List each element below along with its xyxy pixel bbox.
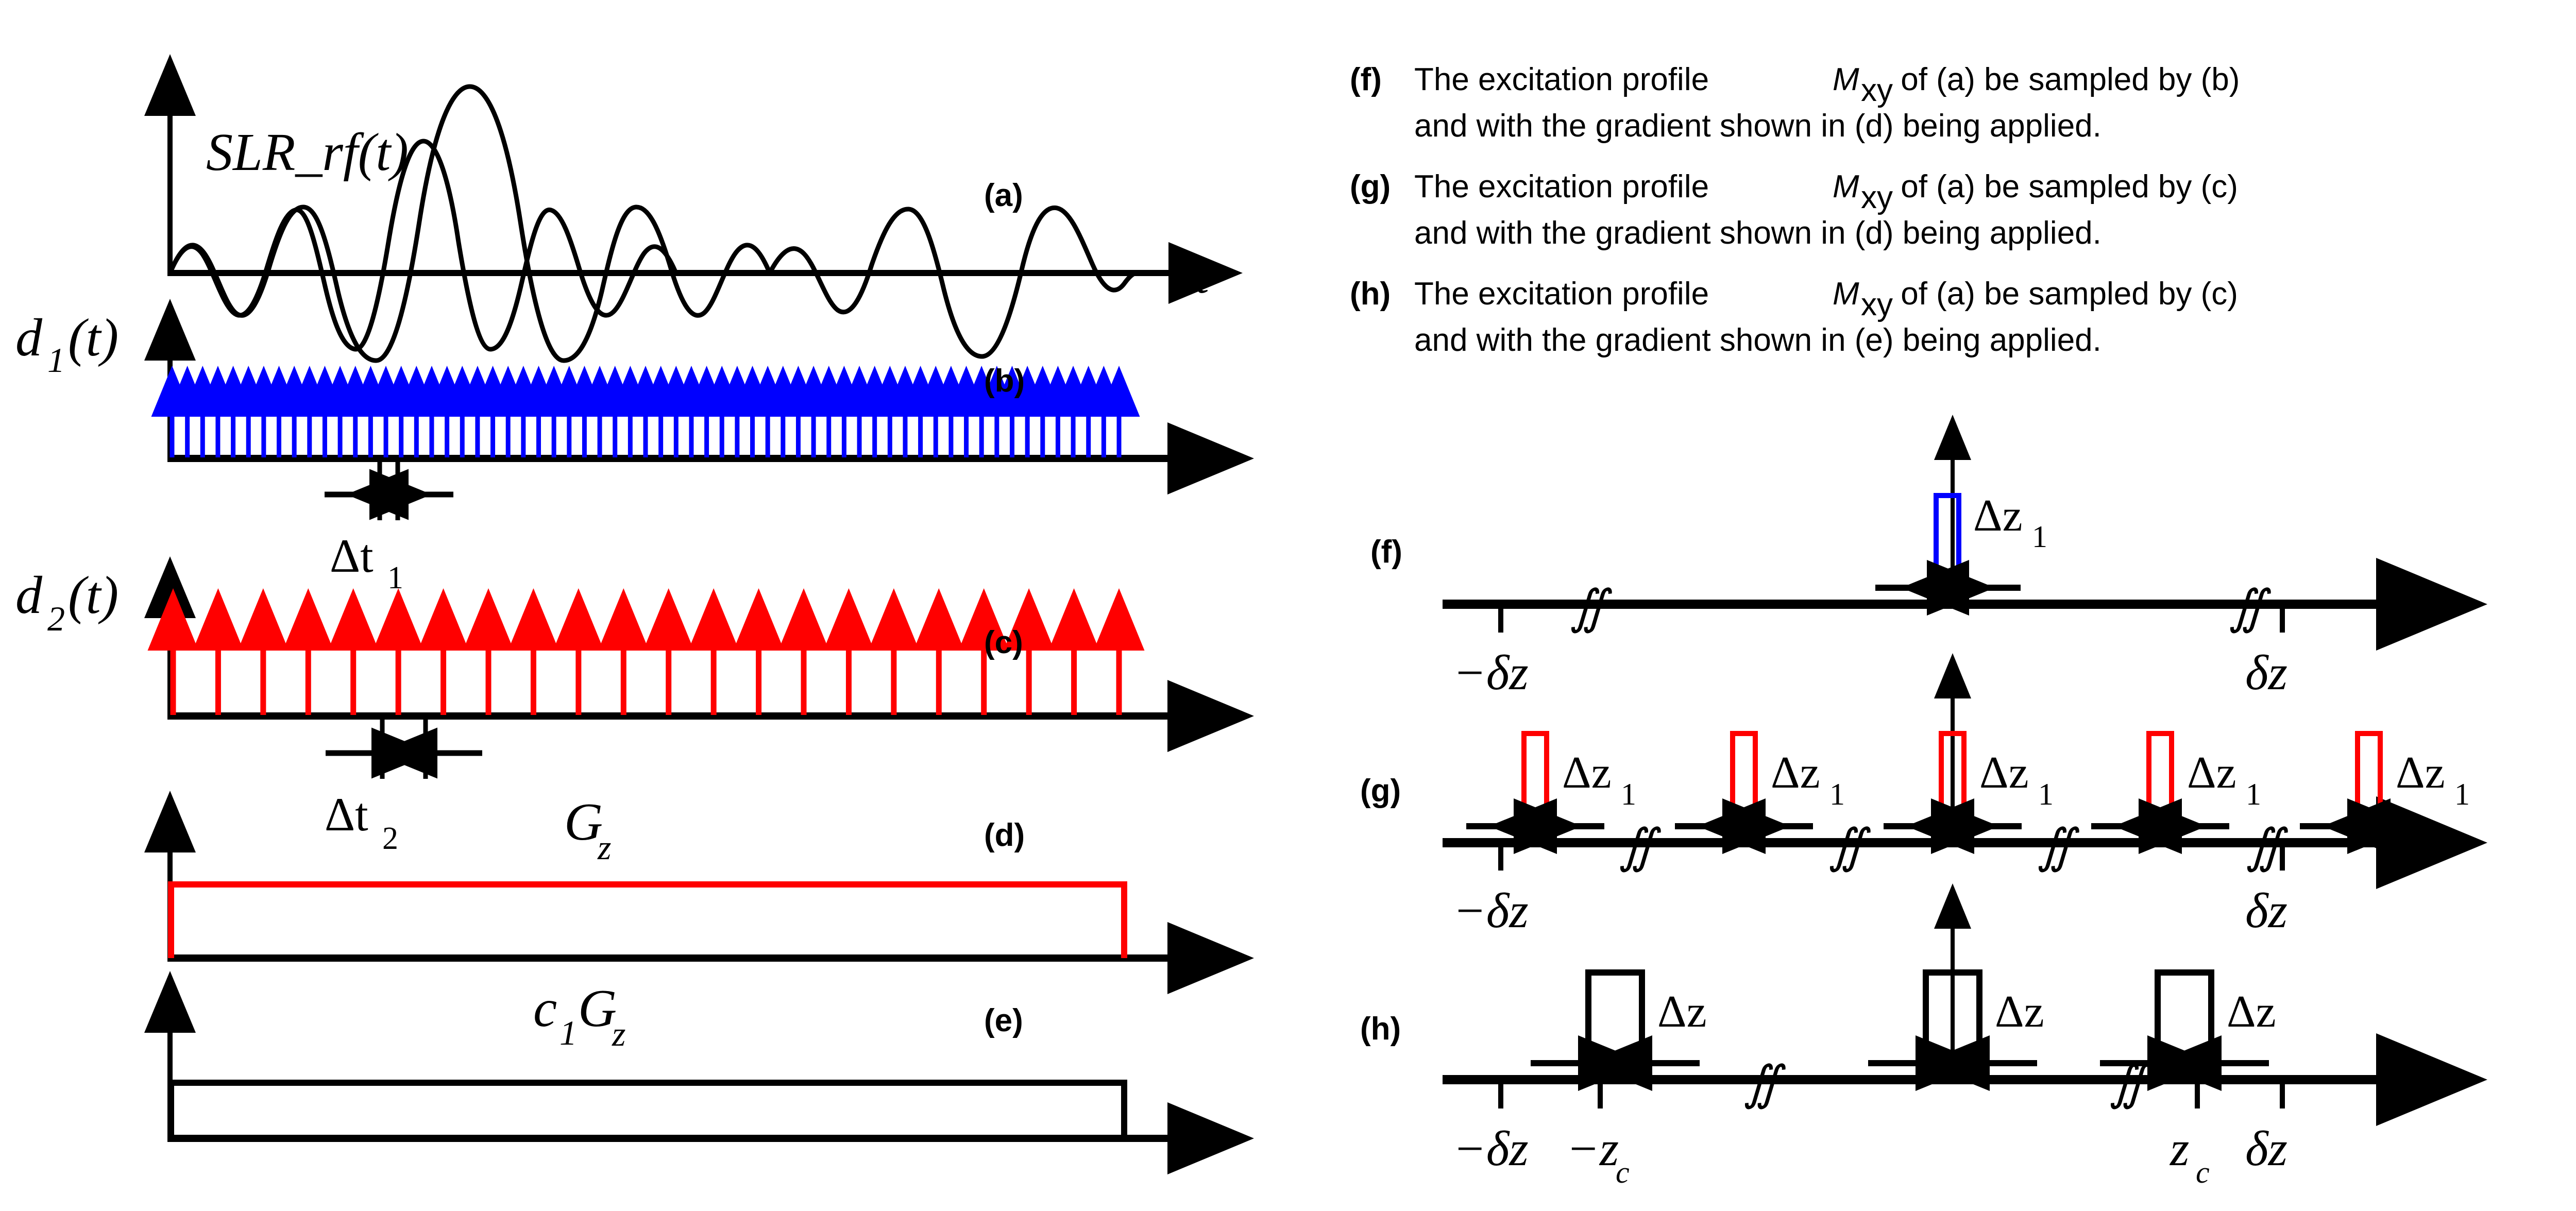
panel-a-axis-label: t (1195, 248, 1210, 303)
panel-f-break-mark-right: ∬ (2229, 581, 2272, 634)
caption-h-line1-b: of (a) be sampled by (c) (1892, 276, 2238, 312)
width-label-2: Δz (2227, 987, 2276, 1037)
width-label-1: Δz (1771, 748, 1820, 798)
width-label-sub-4: 1 (2454, 777, 2470, 811)
panel-g-tag: (g) (1360, 773, 1401, 809)
panel-a-tag: (a) (984, 178, 1023, 213)
break-mark-0: ∬ (1619, 820, 1662, 873)
caption-f-line1-sub: xy (1861, 73, 1893, 108)
panel-e-signal-label: G (578, 979, 617, 1038)
width-label-sub-1: 1 (1829, 777, 1845, 811)
panel-c-signal-label: d (15, 566, 43, 625)
panel-h-tick-label-negzc: −z (1566, 1121, 1619, 1176)
caption-g-line1-m: M (1833, 169, 1859, 204)
panel-d-signal-sub: z (597, 828, 611, 867)
break-mark-1: ∬ (2109, 1057, 2152, 1110)
caption-h-line2: and with the gradient shown in (e) being… (1414, 322, 2102, 358)
caption-f-line1-m: M (1833, 62, 1859, 97)
caption-g-line1-a: The excitation profile (1414, 169, 1718, 204)
width-label-sub-0: 1 (1621, 777, 1636, 811)
panel-b-spacing-sub: 1 (387, 560, 403, 595)
break-mark-0: ∬ (1743, 1057, 1786, 1110)
width-label-4: Δz (2396, 748, 2445, 798)
panel-g-tick-label-negdz: −δz (1453, 883, 1529, 938)
panel-b-tag: (b) (984, 363, 1025, 399)
panel-f-break-mark-left: ∬ (1570, 581, 1613, 634)
caption-g-tag: (g) (1350, 169, 1391, 204)
width-label-0: Δz (1657, 987, 1707, 1037)
panel-g-tick-label-dz: δz (2245, 883, 2287, 938)
panel-h-tick-label-negdz: −δz (1453, 1121, 1529, 1176)
panel-b-signal-label: d (15, 308, 43, 367)
panel-b-axis-label: t (1195, 434, 1210, 489)
panel-g-axis-label: z (2415, 815, 2436, 873)
width-label-2: Δz (1979, 748, 2029, 798)
caption-h-line1-a: The excitation profile (1414, 276, 1718, 312)
panel-f-width-label: Δz (1973, 491, 2023, 541)
caption-g-line1-b: of (a) be sampled by (c) (1892, 169, 2238, 204)
caption-h-line1-sub: xy (1861, 287, 1893, 322)
panel-f-tick-label-negdz: −δz (1453, 645, 1529, 700)
panel-h-tick-label-zc-sub: c (2196, 1155, 2210, 1189)
panel-c-spacing-label: Δt (325, 788, 368, 841)
break-mark-2: ∬ (2037, 820, 2080, 873)
caption-f-line2: and with the gradient shown in (d) being… (1414, 108, 2102, 144)
panel-c-spacing-sub: 2 (382, 821, 398, 856)
panel-c-signal-arg: (t) (68, 566, 118, 625)
width-label-sub-2: 1 (2038, 777, 2054, 811)
caption-f-line1-a: The excitation profile (1414, 62, 1718, 97)
panel-c-signal-sub: 2 (47, 599, 65, 638)
panel-d-axis-label: t (1195, 933, 1210, 988)
panel-h-tick-label-negzc-sub: c (1616, 1155, 1630, 1189)
break-mark-1: ∬ (1828, 820, 1871, 873)
panel-c-axis-label: t (1195, 691, 1210, 746)
panel-e-tag: (e) (984, 1003, 1023, 1038)
width-label-1: Δz (1995, 987, 2044, 1037)
panel-b-signal-sub: 1 (47, 340, 65, 380)
caption-f-line1-b: of (a) be sampled by (b) (1892, 62, 2240, 97)
panel-h-tick-label-dz: δz (2245, 1121, 2287, 1176)
panel-e-coef-label: c (533, 979, 557, 1038)
figure-canvas: SLR_rf(t) t (a) Δt 1 d 1 (t) t (b) (0, 0, 2576, 1211)
width-label-sub-3: 1 (2246, 777, 2261, 811)
panel-f-axis-label: z (2415, 577, 2436, 635)
width-label-3: Δz (2187, 748, 2236, 798)
panel-d-tag: (d) (984, 817, 1025, 853)
panel-b-spacing-label: Δt (330, 530, 374, 582)
panel-e-coef-sub: 1 (560, 1013, 577, 1052)
panel-h-axis-label: z (2415, 1052, 2436, 1110)
panel-c-tag: (c) (984, 625, 1023, 660)
panel-d-signal-label: G (564, 792, 603, 851)
panel-b-signal-arg: (t) (68, 308, 118, 367)
panel-h-tick-label-zc: z (2169, 1121, 2189, 1176)
figure-root: SLR_rf(t) t (a) Δt 1 d 1 (t) t (b) (0, 0, 2576, 1211)
panel-f-tick-label-dz: δz (2245, 645, 2287, 700)
caption-h-line1-m: M (1833, 276, 1859, 312)
panel-f-tag: (f) (1370, 534, 1402, 570)
panel-h-tag: (h) (1360, 1011, 1401, 1047)
caption-h-tag: (h) (1350, 276, 1391, 312)
caption-g-line2: and with the gradient shown in (d) being… (1414, 215, 2102, 251)
caption-f-tag: (f) (1350, 62, 1382, 97)
panel-f-width-sub: 1 (2032, 520, 2047, 554)
panel-e-axis-label: t (1195, 1114, 1210, 1169)
panel-e-signal-sub: z (612, 1014, 625, 1053)
caption-g-line1-sub: xy (1861, 180, 1893, 215)
width-label-0: Δz (1562, 748, 1612, 798)
panel-a-signal-label: SLR_rf(t) (206, 123, 409, 182)
